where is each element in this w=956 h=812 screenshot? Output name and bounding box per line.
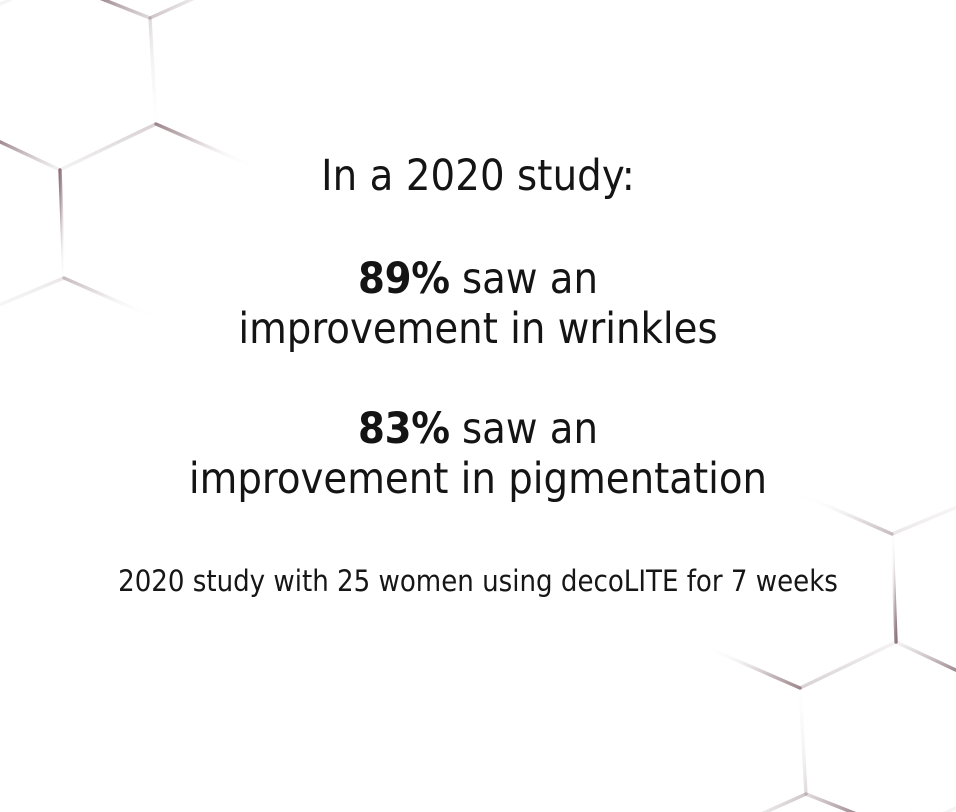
page-title: In a 2020 study: [0,152,956,200]
stat-detail-wrinkles: improvement in wrinkles [0,304,956,354]
stat-value-pigmentation: 83% [358,404,450,454]
stat-headline: 89% saw an [0,254,956,304]
stat-value-wrinkles: 89% [358,254,450,304]
stat-suffix-pigmentation: saw an [450,404,598,454]
slide-canvas: In a 2020 study: 89% saw an improvement … [0,0,956,812]
slide-content: In a 2020 study: 89% saw an improvement … [0,0,956,812]
stat-block-pigmentation: 83% saw an improvement in pigmentation [0,404,956,505]
stat-block-wrinkles: 89% saw an improvement in wrinkles [0,254,956,355]
stat-headline: 83% saw an [0,404,956,454]
stat-detail-pigmentation: improvement in pigmentation [0,454,956,504]
stat-suffix-wrinkles: saw an [450,254,598,304]
study-footnote: 2020 study with 25 women using decoLITE … [0,564,956,599]
